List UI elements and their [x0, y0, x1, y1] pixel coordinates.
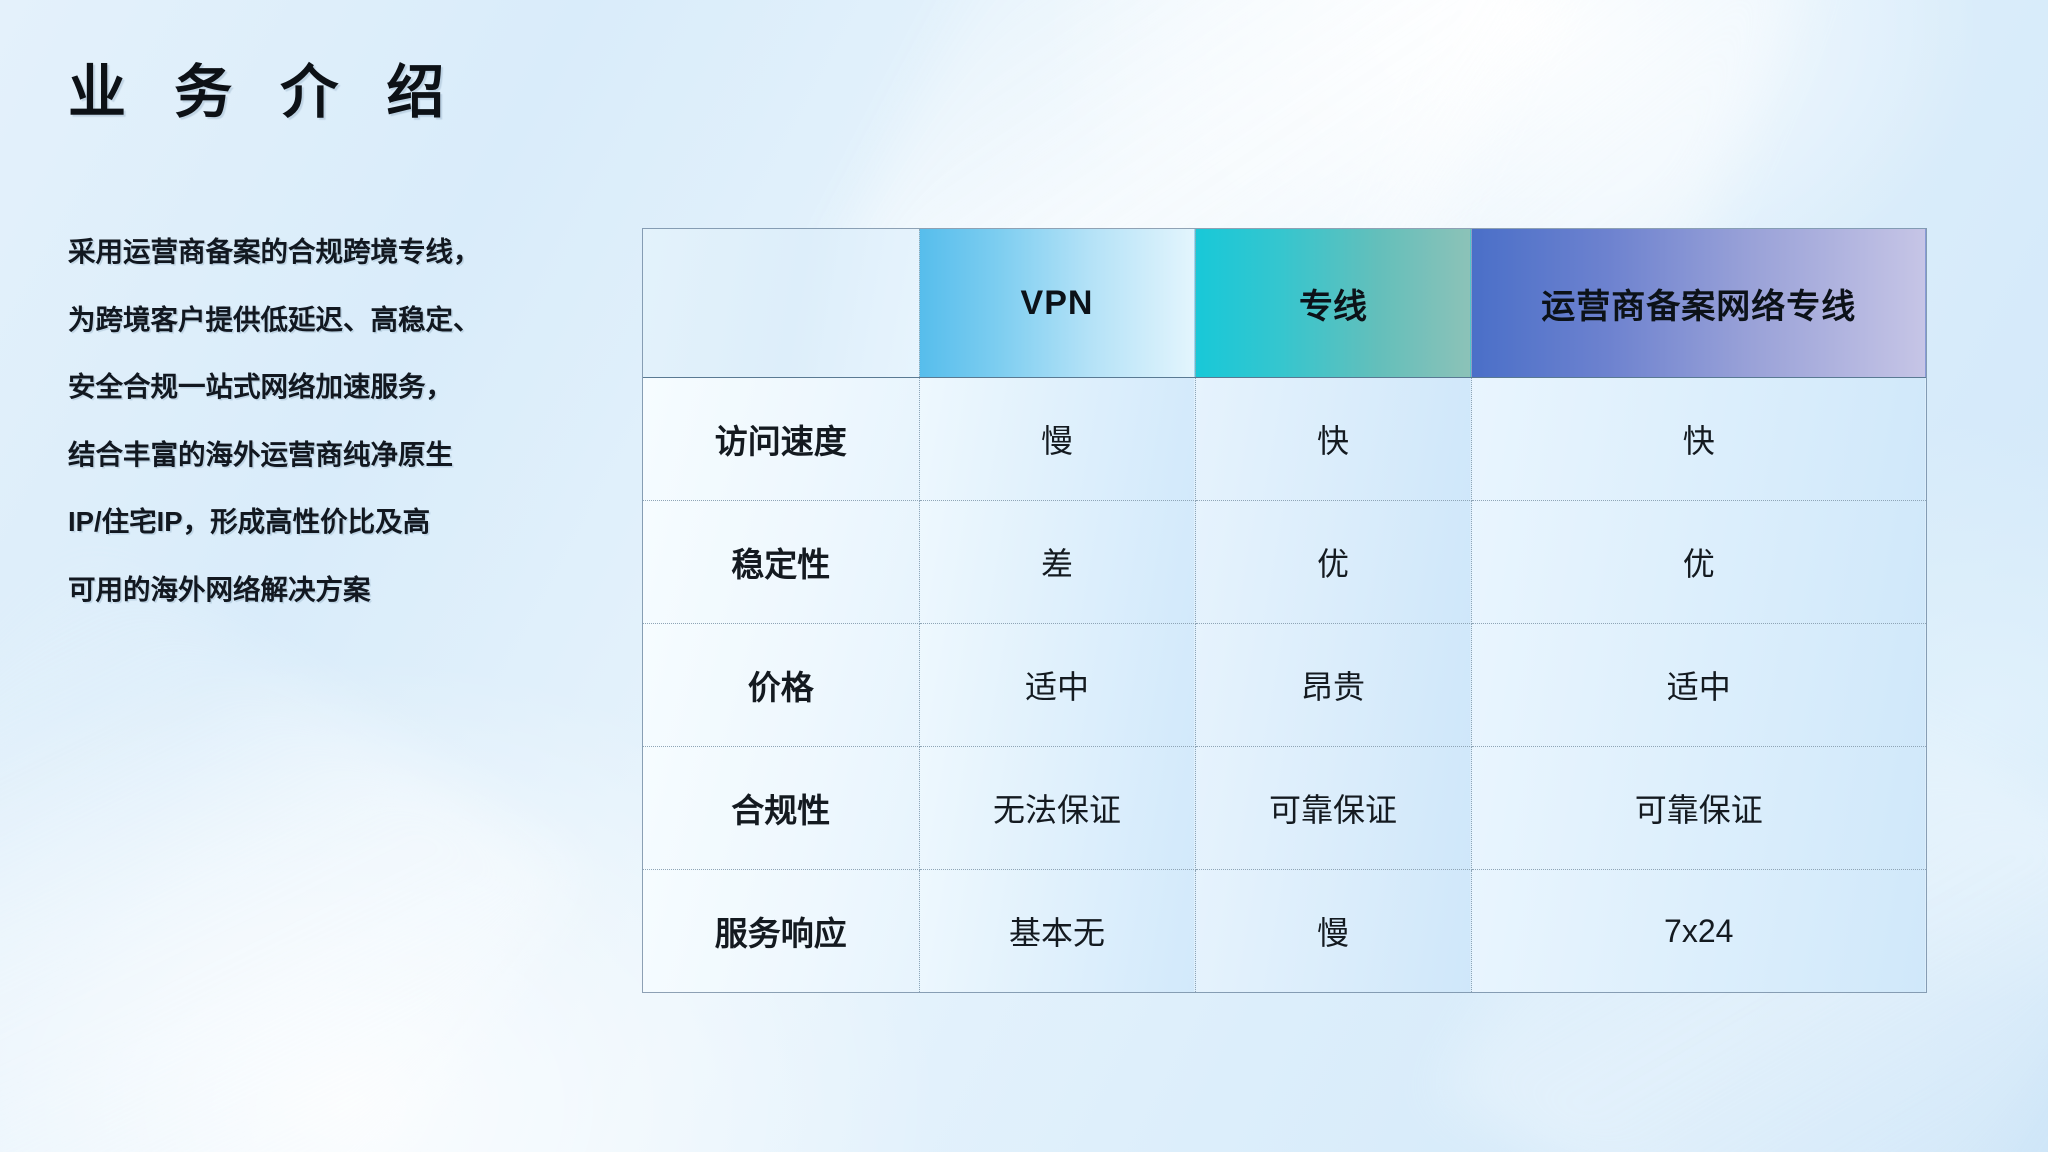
- slide-canvas: 业 务 介 绍 采用运营商备案的合规跨境专线， 为跨境客户提供低延迟、高稳定、 …: [0, 0, 2048, 1152]
- cell-value: 优: [1471, 501, 1926, 624]
- table-row: 访问速度 慢 快 快: [643, 378, 1926, 501]
- row-label: 稳定性: [643, 501, 919, 624]
- table-body: 访问速度 慢 快 快 稳定性 差 优 优 价格 适中 昂贵 适中 合规性 无法保…: [643, 378, 1926, 993]
- table-row: 合规性 无法保证 可靠保证 可靠保证: [643, 747, 1926, 870]
- cell-value: 快: [1195, 378, 1471, 501]
- cell-value: 适中: [919, 624, 1195, 747]
- row-label: 服务响应: [643, 870, 919, 993]
- description-line: 结合丰富的海外运营商纯净原生: [68, 441, 648, 469]
- row-label: 价格: [643, 624, 919, 747]
- cell-value: 7x24: [1471, 870, 1926, 993]
- table-row: 稳定性 差 优 优: [643, 501, 1926, 624]
- cell-value: 昂贵: [1195, 624, 1471, 747]
- comparison-table: VPN 专线 运营商备案网络专线 访问速度 慢 快 快 稳定性 差 优: [643, 229, 1926, 992]
- table-header: VPN 专线 运营商备案网络专线: [643, 229, 1926, 378]
- column-header-isp-registered-line: 运营商备案网络专线: [1471, 229, 1926, 378]
- table-row: 价格 适中 昂贵 适中: [643, 624, 1926, 747]
- cell-value: 基本无: [919, 870, 1195, 993]
- column-header-blank: [643, 229, 919, 378]
- cell-value: 快: [1471, 378, 1926, 501]
- cell-value: 优: [1195, 501, 1471, 624]
- description-line: 可用的海外网络解决方案: [68, 576, 648, 604]
- description-paragraph: 采用运营商备案的合规跨境专线， 为跨境客户提供低延迟、高稳定、 安全合规一站式网…: [68, 238, 648, 603]
- description-line: 采用运营商备案的合规跨境专线，: [68, 238, 648, 266]
- column-header-vpn: VPN: [919, 229, 1195, 378]
- column-header-dedicated-line: 专线: [1195, 229, 1471, 378]
- cell-value: 差: [919, 501, 1195, 624]
- description-line: IP/住宅IP，形成高性价比及高: [68, 508, 648, 536]
- table-header-row: VPN 专线 运营商备案网络专线: [643, 229, 1926, 378]
- row-label: 访问速度: [643, 378, 919, 501]
- cell-value: 可靠保证: [1195, 747, 1471, 870]
- page-title: 业 务 介 绍: [68, 58, 460, 128]
- row-label: 合规性: [643, 747, 919, 870]
- description-line: 为跨境客户提供低延迟、高稳定、: [68, 306, 648, 334]
- cell-value: 可靠保证: [1471, 747, 1926, 870]
- table-row: 服务响应 基本无 慢 7x24: [643, 870, 1926, 993]
- cell-value: 慢: [919, 378, 1195, 501]
- cell-value: 适中: [1471, 624, 1926, 747]
- description-line: 安全合规一站式网络加速服务，: [68, 373, 648, 401]
- cell-value: 慢: [1195, 870, 1471, 993]
- cell-value: 无法保证: [919, 747, 1195, 870]
- background-light-streak: [0, 526, 583, 1152]
